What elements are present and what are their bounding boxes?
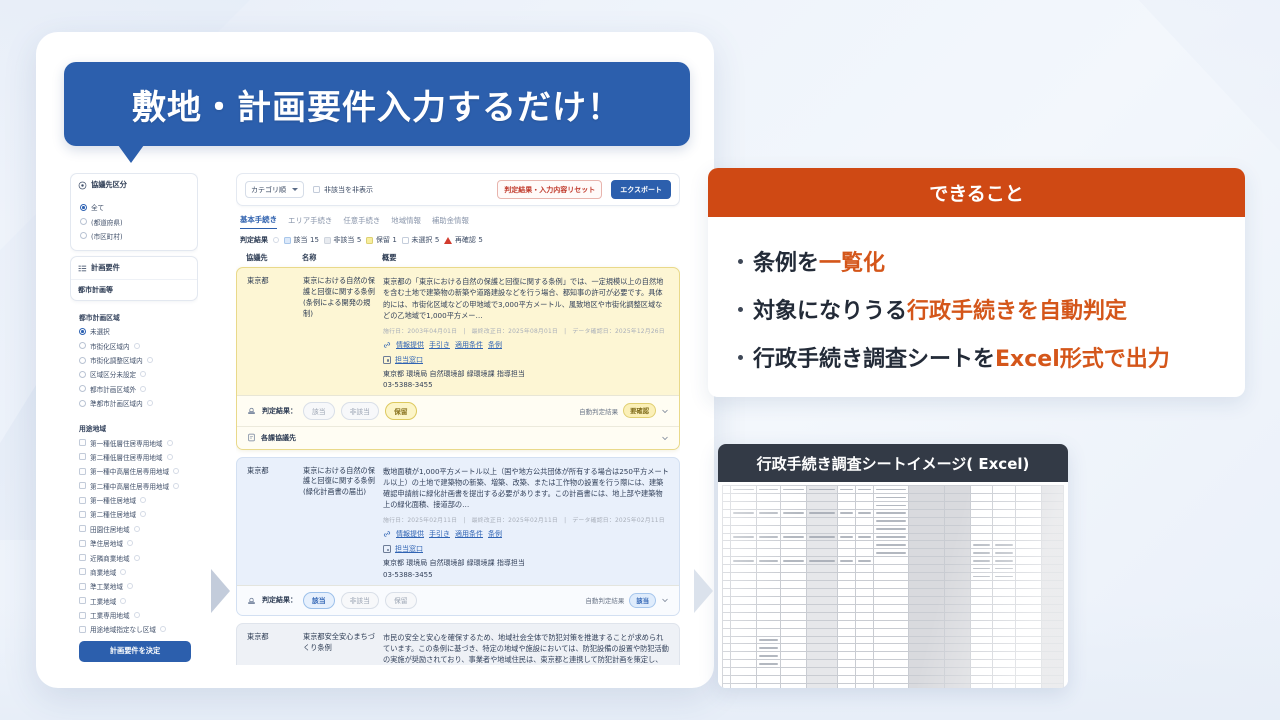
warning-triangle-icon [444, 237, 452, 244]
spreadsheet-cell [873, 493, 909, 501]
checkbox-zoning-7[interactable]: 準住居地域 [79, 536, 191, 550]
spreadsheet-cell [731, 628, 757, 636]
spreadsheet-row [723, 557, 1064, 565]
spreadsheet-cell [856, 493, 874, 501]
spreadsheet-cell [856, 525, 874, 533]
spreadsheet-cell [1042, 604, 1064, 612]
checkbox-label: 第二種低層住居専用地域 [90, 452, 163, 462]
spreadsheet-row [723, 501, 1064, 509]
spreadsheet-row [723, 493, 1064, 501]
spreadsheet-grid [722, 485, 1064, 688]
spreadsheet-cell [723, 604, 731, 612]
table-row[interactable]: 東京都 東京都安全安心まちづくり条例 市民の安全と安心を確保するため、地域社会全… [236, 623, 680, 665]
radio-label: 区域区分未設定 [90, 369, 136, 379]
checkbox-zoning-9[interactable]: 商業地域 [79, 565, 191, 579]
checkbox-icon [79, 525, 86, 532]
spreadsheet-cell [873, 628, 909, 636]
spreadsheet-cell [971, 636, 992, 644]
spreadsheet-cell [945, 628, 971, 636]
spreadsheet-row [723, 581, 1064, 589]
spreadsheet-cell [1042, 596, 1064, 604]
spreadsheet-cell [945, 644, 971, 652]
spreadsheet-cell [781, 509, 807, 517]
spreadsheet-row [723, 525, 1064, 533]
spreadsheet-cell [731, 557, 757, 565]
spreadsheet-cell [1016, 684, 1042, 688]
spreadsheet-cell [873, 644, 909, 652]
row-content: 東京都 東京都安全安心まちづくり条例 市民の安全と安心を確保するため、地域社会全… [237, 624, 679, 665]
checkbox-zoning-3[interactable]: 第二種中高層住居専用地域 [79, 479, 191, 493]
spreadsheet-cell [992, 644, 1016, 652]
column-header-name: 名称 [302, 253, 382, 263]
spreadsheet-cell [856, 652, 874, 660]
spreadsheet-cell [731, 636, 757, 644]
spreadsheet-cell [856, 517, 874, 525]
spreadsheet-cell [945, 549, 971, 557]
checkbox-icon [79, 468, 86, 475]
spreadsheet-cell [971, 684, 992, 688]
judgement-option-not-applicable[interactable]: 非該当 [341, 592, 379, 609]
table-row[interactable]: 東京都 東京における自然の保護と回復に関する条例(条例による開発の規制) 東京都… [236, 267, 680, 449]
link-conditions[interactable]: 適用条件 [455, 340, 483, 350]
sidebar-section-title: 協議先区分 [91, 180, 127, 190]
help-icon[interactable] [134, 555, 140, 561]
spreadsheet-text-line [876, 528, 907, 530]
spreadsheet-cell [1016, 517, 1042, 525]
spreadsheet-row [723, 541, 1064, 549]
spreadsheet-text-line [876, 505, 907, 507]
spreadsheet-cell [873, 612, 909, 620]
checkbox-label: 近隣商業地域 [90, 553, 130, 563]
radio-option-urbanization-control-area[interactable]: 市街化調整区域内 [79, 353, 191, 367]
checkbox-icon [313, 186, 320, 193]
spreadsheet-text-line [840, 489, 853, 491]
tab-optional-procedures[interactable]: 任意手続き [343, 215, 380, 229]
row-body: 東京都の「東京における自然の保護と回復に関する条例」では、一定規模以上の自然地を… [383, 276, 669, 389]
spreadsheet-cell [856, 557, 874, 565]
radio-label: (都道府県) [91, 217, 123, 227]
spreadsheet-cell [807, 684, 838, 688]
spreadsheet-cell [838, 493, 856, 501]
judgement-option-pending[interactable]: 保留 [385, 402, 417, 419]
chevron-down-icon[interactable] [661, 596, 669, 604]
help-icon[interactable] [140, 497, 146, 503]
spreadsheet-cell [1016, 596, 1042, 604]
spreadsheet-cell [723, 581, 731, 589]
spreadsheet-cell [873, 581, 909, 589]
spreadsheet-cell [971, 628, 992, 636]
spreadsheet-cell [731, 644, 757, 652]
checkbox-zoning-6[interactable]: 田園住居地域 [79, 522, 191, 536]
spreadsheet-cell [1016, 620, 1042, 628]
spreadsheet-cell [856, 596, 874, 604]
checkbox-icon [79, 568, 86, 575]
legend-item-not-applicable: 非該当 5 [324, 235, 361, 245]
spreadsheet-cell [873, 509, 909, 517]
spreadsheet-cell [1016, 501, 1042, 509]
spreadsheet-cell [781, 660, 807, 668]
spreadsheet-cell [731, 493, 757, 501]
spreadsheet-cell [1042, 493, 1064, 501]
table-row[interactable]: 東京都 東京における自然の保護と回復に関する条例(緑化計画書の届出) 敷地面積が… [236, 457, 680, 616]
spreadsheet-cell [971, 660, 992, 668]
checkbox-icon [79, 583, 86, 590]
radio-label: 都市計画区域外 [90, 384, 136, 394]
radio-label: 市街化調整区域内 [90, 355, 143, 365]
office-link[interactable]: 担当窓口 [395, 544, 423, 554]
spreadsheet-cell [909, 684, 945, 688]
spreadsheet-cell [838, 596, 856, 604]
spreadsheet-cell [945, 509, 971, 517]
spreadsheet-cell [945, 525, 971, 533]
spreadsheet-cell [873, 604, 909, 612]
checkbox-zoning-13[interactable]: 用途地域指定なし区域 [79, 622, 191, 636]
spreadsheet-cell [992, 501, 1016, 509]
spreadsheet-cell [873, 573, 909, 581]
auto-judgement-value: 要確認 [623, 403, 656, 418]
link-ordinance[interactable]: 条例 [488, 340, 502, 350]
spreadsheet-row [723, 509, 1064, 517]
spreadsheet-text-line [995, 576, 1014, 578]
legend-item-applicable: 該当 15 [284, 235, 319, 245]
spreadsheet-cell [807, 557, 838, 565]
spreadsheet-cell [1016, 509, 1042, 517]
spreadsheet-cell [1042, 668, 1064, 676]
spreadsheet-cell [856, 660, 874, 668]
checkbox-label: 工業専用地域 [90, 610, 130, 620]
spreadsheet-cell [723, 501, 731, 509]
judgement-option-applicable[interactable]: 該当 [303, 592, 335, 609]
spreadsheet-cell [909, 644, 945, 652]
sort-select[interactable]: カテゴリ順 [245, 181, 304, 198]
features-card-title: できること [708, 168, 1245, 217]
spreadsheet-cell [971, 596, 992, 604]
help-icon[interactable] [120, 569, 126, 575]
help-icon[interactable] [127, 540, 133, 546]
judgement-option-applicable[interactable]: 該当 [303, 402, 335, 419]
office-link[interactable]: 担当窓口 [395, 355, 423, 365]
spreadsheet-text-line [840, 512, 853, 514]
spreadsheet-cell [838, 660, 856, 668]
spreadsheet-cell [945, 581, 971, 589]
spreadsheet-cell [731, 533, 757, 541]
spreadsheet-row [723, 612, 1064, 620]
spreadsheet-text-line [995, 552, 1014, 554]
excel-sheet-preview [718, 482, 1068, 688]
link-ordinance[interactable]: 条例 [488, 529, 502, 539]
help-icon[interactable] [127, 583, 133, 589]
radio-icon [79, 385, 86, 392]
help-icon[interactable] [167, 440, 173, 446]
checkbox-zoning-8[interactable]: 近隣商業地域 [79, 550, 191, 564]
tab-subsidy-info[interactable]: 補助金情報 [432, 215, 469, 229]
spreadsheet-cell [757, 509, 781, 517]
spreadsheet-cell [856, 533, 874, 541]
radio-option-outside-city-planning-area[interactable]: 都市計画区域外 [79, 382, 191, 396]
row-summary: 市民の安全と安心を確保するため、地域社会全体で防犯対策を推進することが求められて… [383, 632, 669, 665]
checkbox-zoning-5[interactable]: 第二種住居地域 [79, 507, 191, 521]
help-icon[interactable] [140, 386, 146, 392]
spreadsheet-cell [945, 668, 971, 676]
headline-callout: 敷地・計画要件入力するだけ！ [64, 62, 690, 146]
feature-highlight: Excel形式で出力 [995, 347, 1170, 372]
help-icon[interactable] [167, 454, 173, 460]
spreadsheet-cell [723, 565, 731, 573]
chevron-down-icon[interactable] [661, 407, 669, 415]
help-icon[interactable] [140, 371, 146, 377]
spreadsheet-row [723, 620, 1064, 628]
help-icon[interactable] [147, 400, 153, 406]
checkbox-zoning-4[interactable]: 第一種住居地域 [79, 493, 191, 507]
spreadsheet-cell [807, 612, 838, 620]
checkbox-zoning-1[interactable]: 第二種低層住居専用地域 [79, 450, 191, 464]
help-icon[interactable] [120, 598, 126, 604]
spreadsheet-cell [909, 517, 945, 525]
help-icon[interactable] [173, 483, 179, 489]
spreadsheet-cell [856, 581, 874, 589]
spreadsheet-cell [807, 596, 838, 604]
spreadsheet-cell [873, 501, 909, 509]
radio-option-municipality[interactable]: (市区町村) [80, 229, 190, 243]
spreadsheet-text-line [858, 489, 871, 491]
tab-basic-procedures[interactable]: 基本手続き [240, 214, 277, 229]
spreadsheet-cell [731, 565, 757, 573]
spreadsheet-cell [945, 501, 971, 509]
link-conditions[interactable]: 適用条件 [455, 529, 483, 539]
spreadsheet-cell [757, 581, 781, 589]
departments-toggle[interactable] [661, 434, 669, 442]
spreadsheet-cell [723, 660, 731, 668]
spreadsheet-cell [945, 533, 971, 541]
spreadsheet-cell [731, 549, 757, 557]
spreadsheet-text-line [876, 552, 907, 554]
spreadsheet-cell [945, 660, 971, 668]
help-icon[interactable] [134, 612, 140, 618]
spreadsheet-cell [1042, 636, 1064, 644]
spreadsheet-cell [807, 604, 838, 612]
checkbox-icon [79, 612, 86, 619]
legend-count: 5 [435, 236, 439, 244]
spreadsheet-cell [945, 620, 971, 628]
radio-icon [79, 342, 86, 349]
help-icon[interactable] [273, 237, 279, 243]
spreadsheet-cell [1042, 581, 1064, 589]
spreadsheet-cell [731, 588, 757, 596]
checkbox-icon [79, 540, 86, 547]
spreadsheet-cell [838, 620, 856, 628]
spreadsheet-cell [838, 549, 856, 557]
legend-item-unselected: 未選択 5 [402, 235, 439, 245]
link-info[interactable]: 情報提供 [396, 340, 424, 350]
help-icon[interactable] [160, 626, 166, 632]
spreadsheet-cell [781, 525, 807, 533]
row-content: 東京都 東京における自然の保護と回復に関する条例(緑化計画書の届出) 敷地面積が… [237, 458, 679, 585]
spreadsheet-cell [873, 525, 909, 533]
spreadsheet-cell [807, 668, 838, 676]
spreadsheet-cell [731, 486, 757, 494]
spreadsheet-cell [909, 652, 945, 660]
bullet-icon [738, 307, 743, 312]
column-header-summary: 概要 [382, 253, 670, 263]
spreadsheet-cell [1016, 525, 1042, 533]
partner-type-options: 全て (都道府県) (市区町村) [71, 196, 197, 250]
help-icon[interactable] [134, 526, 140, 532]
radio-option-all[interactable]: 全て [80, 200, 190, 214]
checkbox-zoning-11[interactable]: 工業地域 [79, 594, 191, 608]
spreadsheet-cell [757, 644, 781, 652]
auto-judgement-value: 該当 [629, 593, 656, 608]
bullet-icon [738, 259, 743, 264]
tab-regional-info[interactable]: 地域情報 [391, 215, 421, 229]
spreadsheet-cell [723, 541, 731, 549]
spreadsheet-cell [757, 517, 781, 525]
checkbox-zoning-2[interactable]: 第一種中高層住居専用地域 [79, 464, 191, 478]
row-summary: 東京都の「東京における自然の保護と回復に関する条例」では、一定規模以上の自然地を… [383, 276, 669, 321]
group-label-city-planning-area: 都市計画区域 [79, 308, 191, 324]
bullet-icon [738, 355, 743, 360]
zoning-group: 用途地域 第一種低層住居専用地域 第二種低層住居専用地域 第一種中高層住居専用地… [70, 415, 198, 665]
feature-highlight: 一覧化 [819, 251, 885, 276]
spreadsheet-row [723, 636, 1064, 644]
column-header-org: 協議先 [246, 253, 302, 263]
spreadsheet-cell [781, 541, 807, 549]
radio-option-prefecture[interactable]: (都道府県) [80, 214, 190, 228]
spreadsheet-cell [723, 668, 731, 676]
radio-option-urbanization-area[interactable]: 市街化区域内 [79, 339, 191, 353]
spreadsheet-cell [757, 493, 781, 501]
spreadsheet-cell [757, 596, 781, 604]
spreadsheet-cell [1042, 549, 1064, 557]
spreadsheet-cell [945, 573, 971, 581]
spreadsheet-cell [838, 684, 856, 688]
spreadsheet-cell [945, 636, 971, 644]
spreadsheet-text-line [995, 560, 1014, 562]
spreadsheet-cell [1042, 628, 1064, 636]
spreadsheet-cell [723, 486, 731, 494]
spreadsheet-cell [909, 541, 945, 549]
spreadsheet-cell [992, 620, 1016, 628]
tab-area-procedures[interactable]: エリア手続き [288, 215, 332, 229]
row-org: 東京都 [247, 276, 303, 389]
reset-button[interactable]: 判定結果・入力内容リセット [497, 180, 602, 198]
radio-option-unselected[interactable]: 未選択 [79, 324, 191, 338]
spreadsheet-cell [838, 486, 856, 494]
spreadsheet-text-line [840, 536, 853, 538]
spreadsheet-cell [945, 493, 971, 501]
row-judgement-bar: 判定結果： 該当 非該当 保留 自動判定結果 該当 [237, 585, 679, 615]
spreadsheet-cell [723, 636, 731, 644]
spreadsheet-cell [873, 517, 909, 525]
export-button[interactable]: エクスポート [611, 180, 671, 199]
spreadsheet-cell [838, 517, 856, 525]
row-org: 東京都 [247, 632, 303, 665]
spreadsheet-cell [992, 660, 1016, 668]
spreadsheet-cell [757, 501, 781, 509]
spreadsheet-cell [992, 565, 1016, 573]
chevron-down-icon[interactable] [661, 434, 669, 442]
spreadsheet-cell [945, 684, 971, 688]
checkbox-icon [79, 439, 86, 446]
spreadsheet-cell [731, 684, 757, 688]
legend-label: 再確認 [455, 235, 476, 245]
spreadsheet-cell [971, 501, 992, 509]
spreadsheet-cell [873, 486, 909, 494]
spreadsheet-cell [757, 668, 781, 676]
spreadsheet-cell [992, 573, 1016, 581]
contact-window-icon [383, 356, 391, 364]
spreadsheet-row [723, 684, 1064, 688]
spreadsheet-cell [731, 517, 757, 525]
checkbox-zoning-0[interactable]: 第一種低層住居専用地域 [79, 435, 191, 449]
spreadsheet-cell [731, 612, 757, 620]
row-departments-bar[interactable]: 各課協議先 [237, 426, 679, 449]
radio-icon [80, 218, 87, 225]
radio-option-quasi-city-planning-area[interactable]: 準都市計画区域内 [79, 396, 191, 410]
excel-preview-title: 行政手続き調査シートイメージ( Excel) [718, 444, 1068, 482]
row-body: 市民の安全と安心を確保するため、地域社会全体で防犯対策を推進することが求められて… [383, 632, 669, 665]
sidebar-subsection-title: 都市計画等 [71, 279, 197, 300]
list-icon [78, 264, 87, 273]
spreadsheet-cell [723, 493, 731, 501]
spreadsheet-cell [781, 557, 807, 565]
row-telephone: 03-5388-3455 [383, 379, 669, 390]
spreadsheet-text-line [876, 489, 907, 491]
spreadsheet-row [723, 652, 1064, 660]
help-icon[interactable] [134, 343, 140, 349]
spreadsheet-cell [723, 628, 731, 636]
swatch-white-icon [402, 237, 409, 244]
spreadsheet-cell [1016, 660, 1042, 668]
link-guide[interactable]: 手引き [429, 340, 450, 350]
spreadsheet-cell [731, 620, 757, 628]
link-info[interactable]: 情報提供 [396, 529, 424, 539]
checkbox-zoning-12[interactable]: 工業専用地域 [79, 608, 191, 622]
radio-option-no-area-division[interactable]: 区域区分未設定 [79, 367, 191, 381]
spreadsheet-cell [838, 612, 856, 620]
help-icon[interactable] [140, 511, 146, 517]
help-icon[interactable] [147, 357, 153, 363]
hide-nonapplicable-checkbox[interactable]: 非該当を非表示 [313, 185, 373, 195]
spreadsheet-cell [971, 581, 992, 589]
spreadsheet-cell [723, 549, 731, 557]
row-office: 担当窓口 [383, 350, 669, 365]
radio-icon [79, 371, 86, 378]
link-guide[interactable]: 手引き [429, 529, 450, 539]
spreadsheet-cell [731, 581, 757, 589]
spreadsheet-row [723, 660, 1064, 668]
spreadsheet-cell [992, 636, 1016, 644]
spreadsheet-cell [971, 676, 992, 684]
spreadsheet-text-line [759, 663, 778, 665]
decide-plan-requirements-button[interactable]: 計画要件を決定 [79, 641, 191, 662]
row-address: 東京都 環境局 自然環境部 緑環境課 指導担当 [383, 365, 669, 379]
spreadsheet-cell [856, 486, 874, 494]
spreadsheet-cell [781, 596, 807, 604]
spreadsheet-cell [971, 612, 992, 620]
spreadsheet-cell [992, 541, 1016, 549]
spreadsheet-cell [856, 636, 874, 644]
spreadsheet-cell [1042, 486, 1064, 494]
spreadsheet-cell [992, 668, 1016, 676]
spreadsheet-cell [1016, 588, 1042, 596]
help-icon[interactable] [173, 468, 179, 474]
spreadsheet-cell [838, 541, 856, 549]
spreadsheet-cell [757, 636, 781, 644]
judgement-option-not-applicable[interactable]: 非該当 [341, 402, 379, 419]
checkbox-zoning-10[interactable]: 準工業地域 [79, 579, 191, 593]
spreadsheet-text-line [876, 544, 907, 546]
judgement-option-pending[interactable]: 保留 [385, 592, 417, 609]
